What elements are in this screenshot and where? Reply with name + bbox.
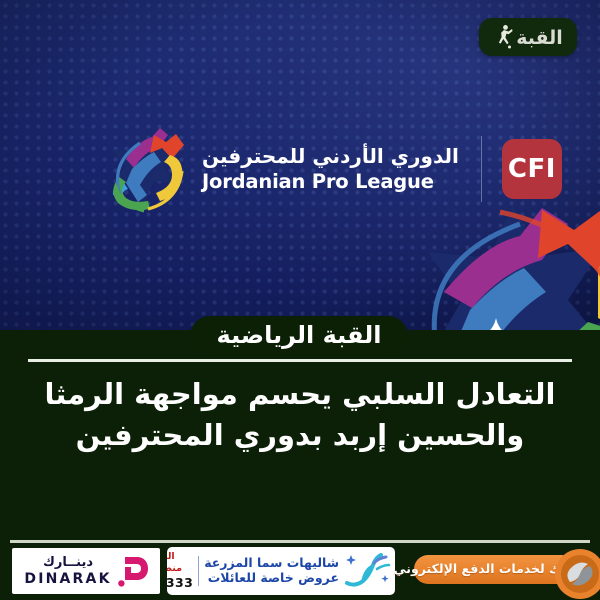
sponsor-sama-chalets[interactable]: شاليهات سما المزرعة عروض خاصة للعائلات ا…: [167, 547, 395, 595]
dinarak-d-mark-icon: [118, 555, 148, 587]
league-name-arabic: الدوري الأردني للمحترفين: [202, 144, 459, 169]
channel-logo-badge[interactable]: القبة: [479, 18, 577, 56]
dinarak-wordmark: دينــارك DINARAK: [24, 556, 111, 586]
sama-line-2: عروض خاصة للعائلات: [204, 571, 339, 586]
dinarak-name-arabic: دينــارك: [43, 556, 93, 569]
sponsor-dinarak[interactable]: دينــارك DINARAK: [12, 548, 160, 594]
sama-offer-text: شاليهات سما المزرعة عروض خاصة للعائلات: [204, 556, 339, 586]
section-title: القبة الرياضية: [217, 323, 382, 347]
rahatak-orb-icon: [554, 548, 600, 600]
league-names: الدوري الأردني للمحترفين Jordanian Pro L…: [202, 133, 459, 205]
sponsor-top-rule: [10, 540, 590, 543]
jordanian-pro-league-star-mark: [104, 125, 188, 213]
sponsor-bar: دينــارك DINARAK شاليهات سما المزرعة: [0, 546, 600, 598]
sama-location-1: البحر الميت: [167, 551, 175, 562]
headline-line-2: والحسين إربد بدوري المحترفين: [22, 415, 578, 456]
social-media-sports-card: القبة الدو: [0, 0, 600, 600]
sponsor-rahatak[interactable]: راحتك لخدمات الدفع الإلكتروني: [404, 549, 600, 593]
section-title-pill: القبة الرياضية: [190, 316, 408, 356]
sama-contact-block: البحر الميت منطقة الروضة 0799001333: [167, 551, 193, 590]
league-name-english: Jordanian Pro League: [202, 170, 459, 193]
league-lockup: الدوري الأردني للمحترفين Jordanian Pro L…: [104, 125, 562, 213]
cfi-label: CFI: [508, 154, 556, 184]
headline-top-rule: [28, 359, 572, 362]
rahatak-tagline-bar: راحتك لخدمات الدفع الإلكتروني: [414, 555, 566, 584]
sama-divider: [198, 556, 199, 586]
sama-phone-number[interactable]: 0799001333: [167, 575, 193, 591]
lockup-divider: [481, 136, 482, 202]
sama-line-1: شاليهات سما المزرعة: [204, 556, 339, 571]
sama-script-logo-icon: [341, 549, 391, 593]
athlete-silhouette-icon: [493, 24, 513, 50]
headline: التعادل السلبي يحسم مواجهة الرمثا والحسي…: [22, 374, 578, 456]
dinarak-name-english: DINARAK: [24, 572, 111, 586]
channel-name: القبة: [516, 29, 563, 48]
cfi-sponsor-badge[interactable]: CFI: [502, 139, 562, 199]
sama-location-2: منطقة الروضة: [167, 563, 182, 574]
headline-line-1: التعادل السلبي يحسم مواجهة الرمثا: [22, 374, 578, 415]
